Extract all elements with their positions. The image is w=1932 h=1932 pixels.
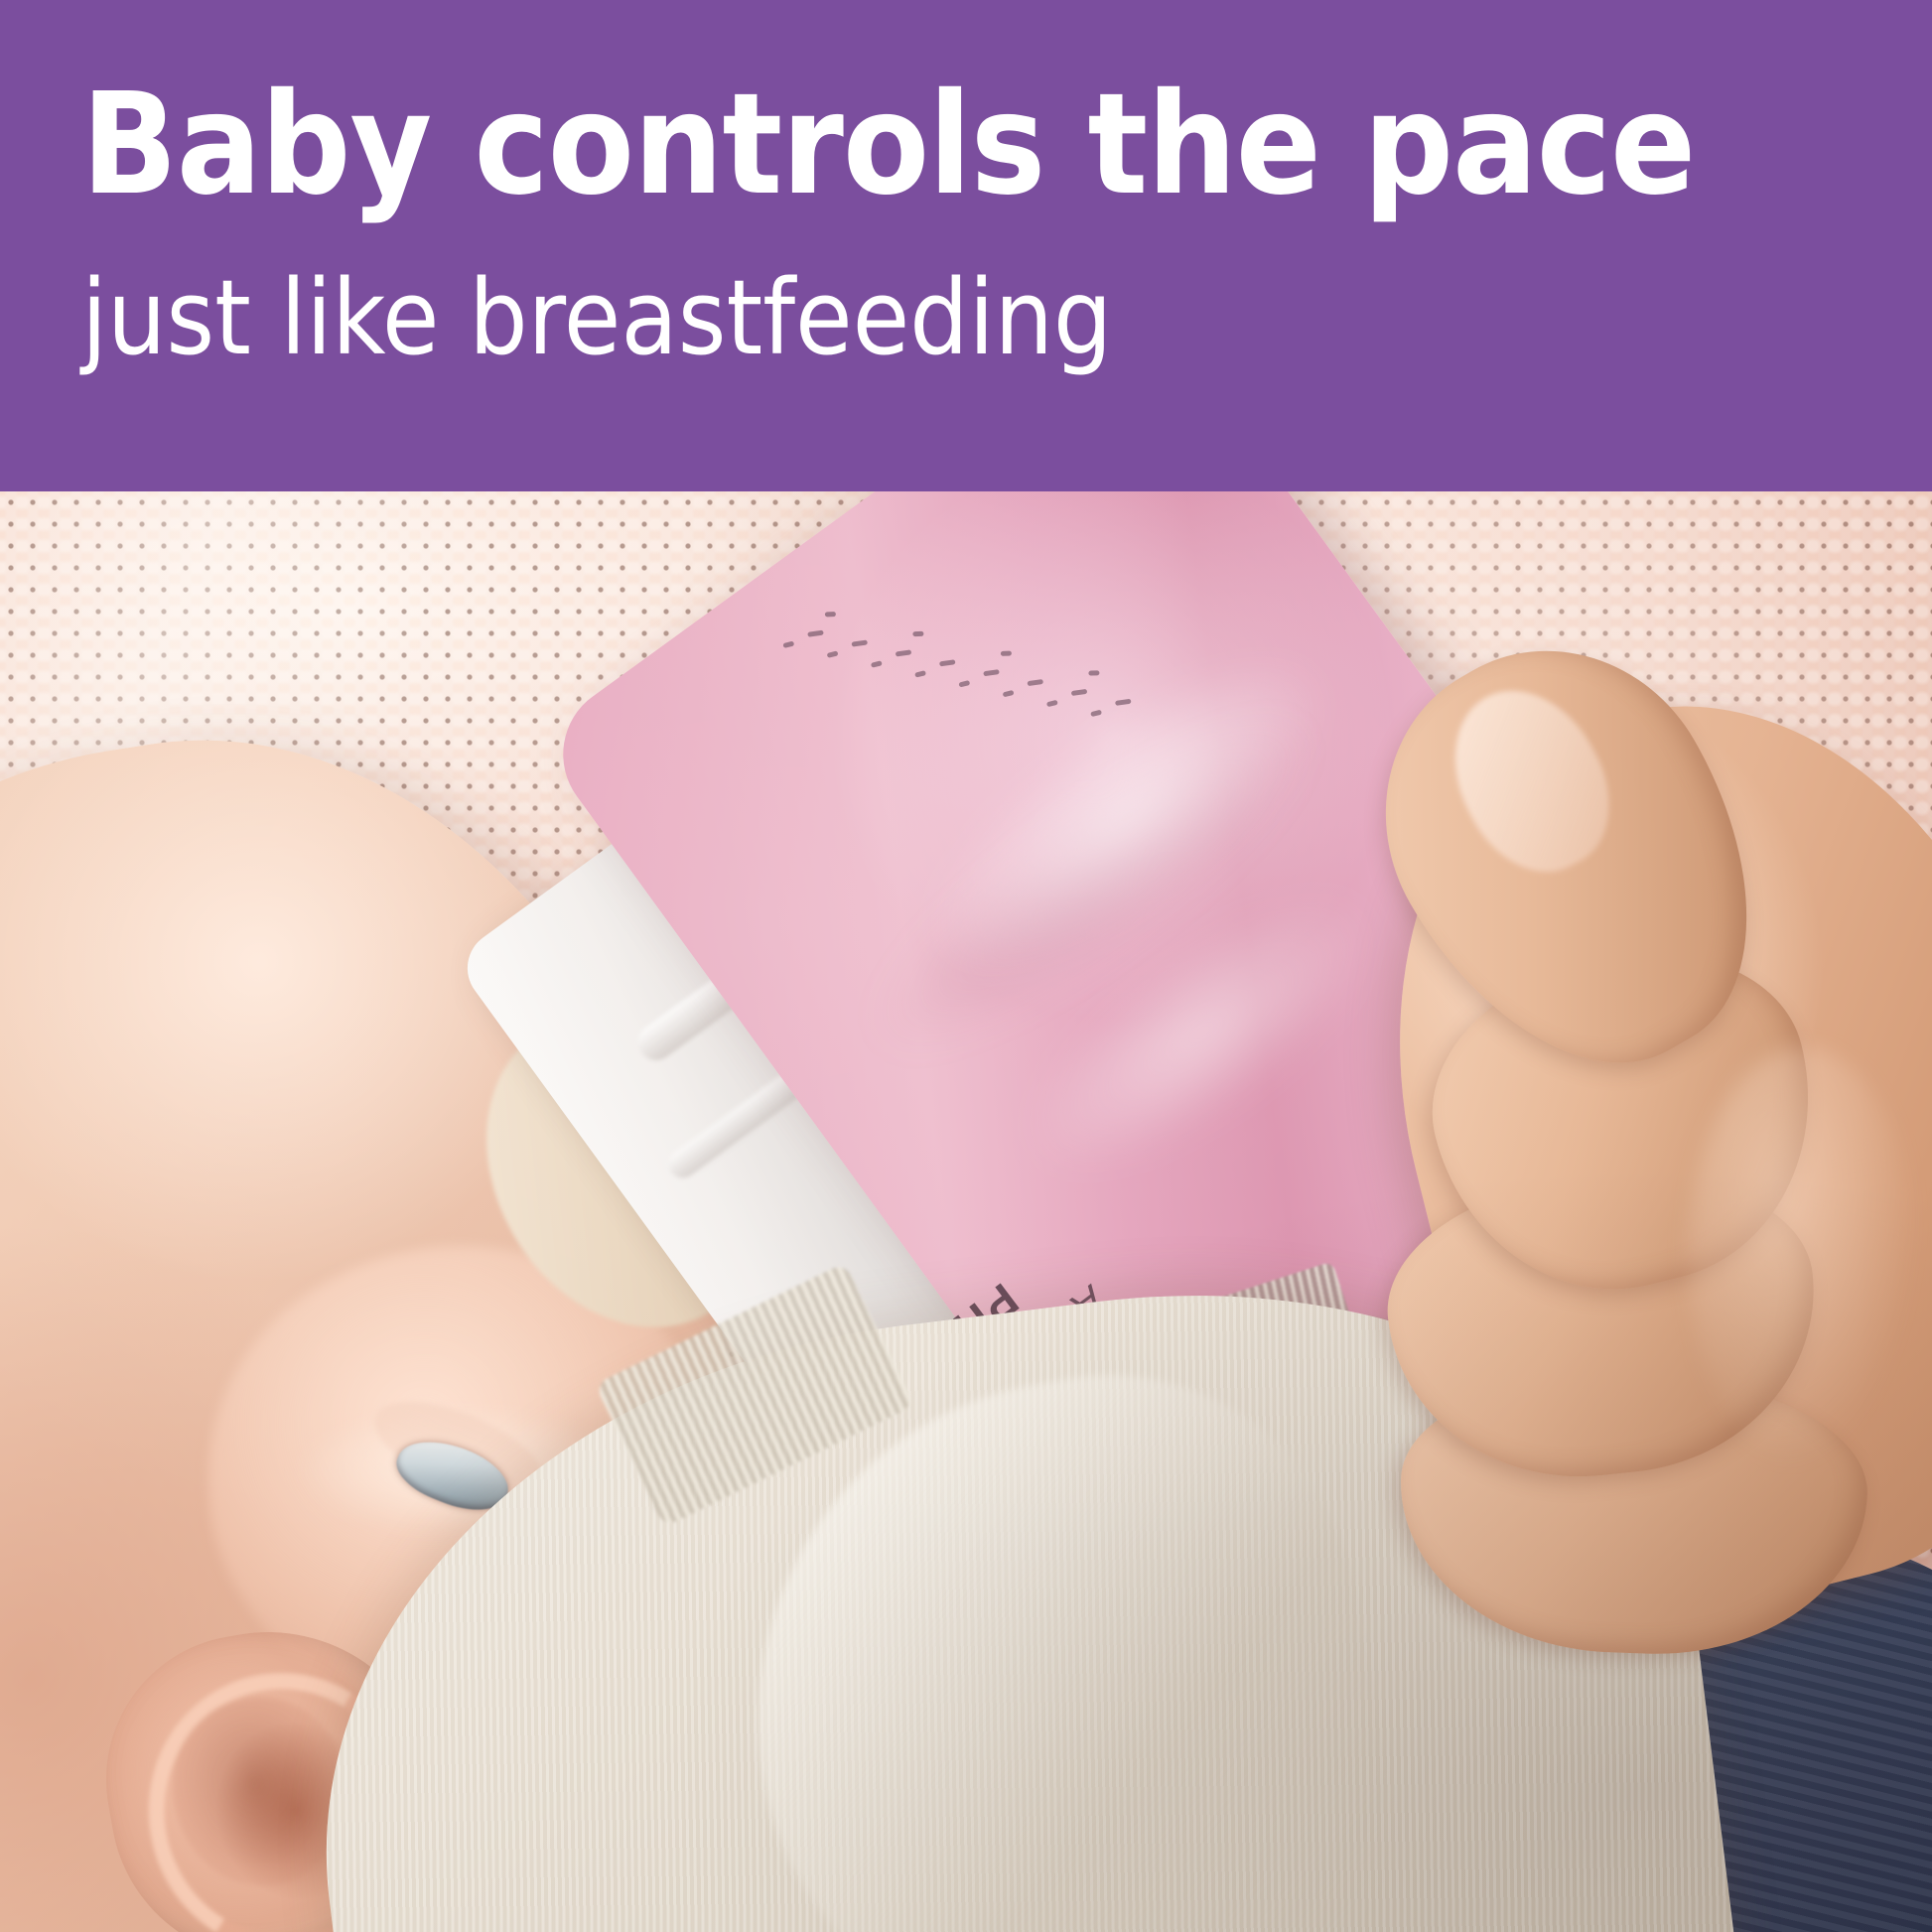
hero-photo: PHILIPS AVENT	[0, 491, 1932, 1932]
header-banner: Baby controls the pace just like breastf…	[0, 0, 1932, 491]
adult-hand-knuckle-highlight	[1688, 1047, 1916, 1464]
page-subtitle: just like breastfeeding	[81, 266, 1112, 369]
page-title: Baby controls the pace	[81, 75, 1868, 215]
promo-image: Baby controls the pace just like breastf…	[0, 0, 1932, 1932]
